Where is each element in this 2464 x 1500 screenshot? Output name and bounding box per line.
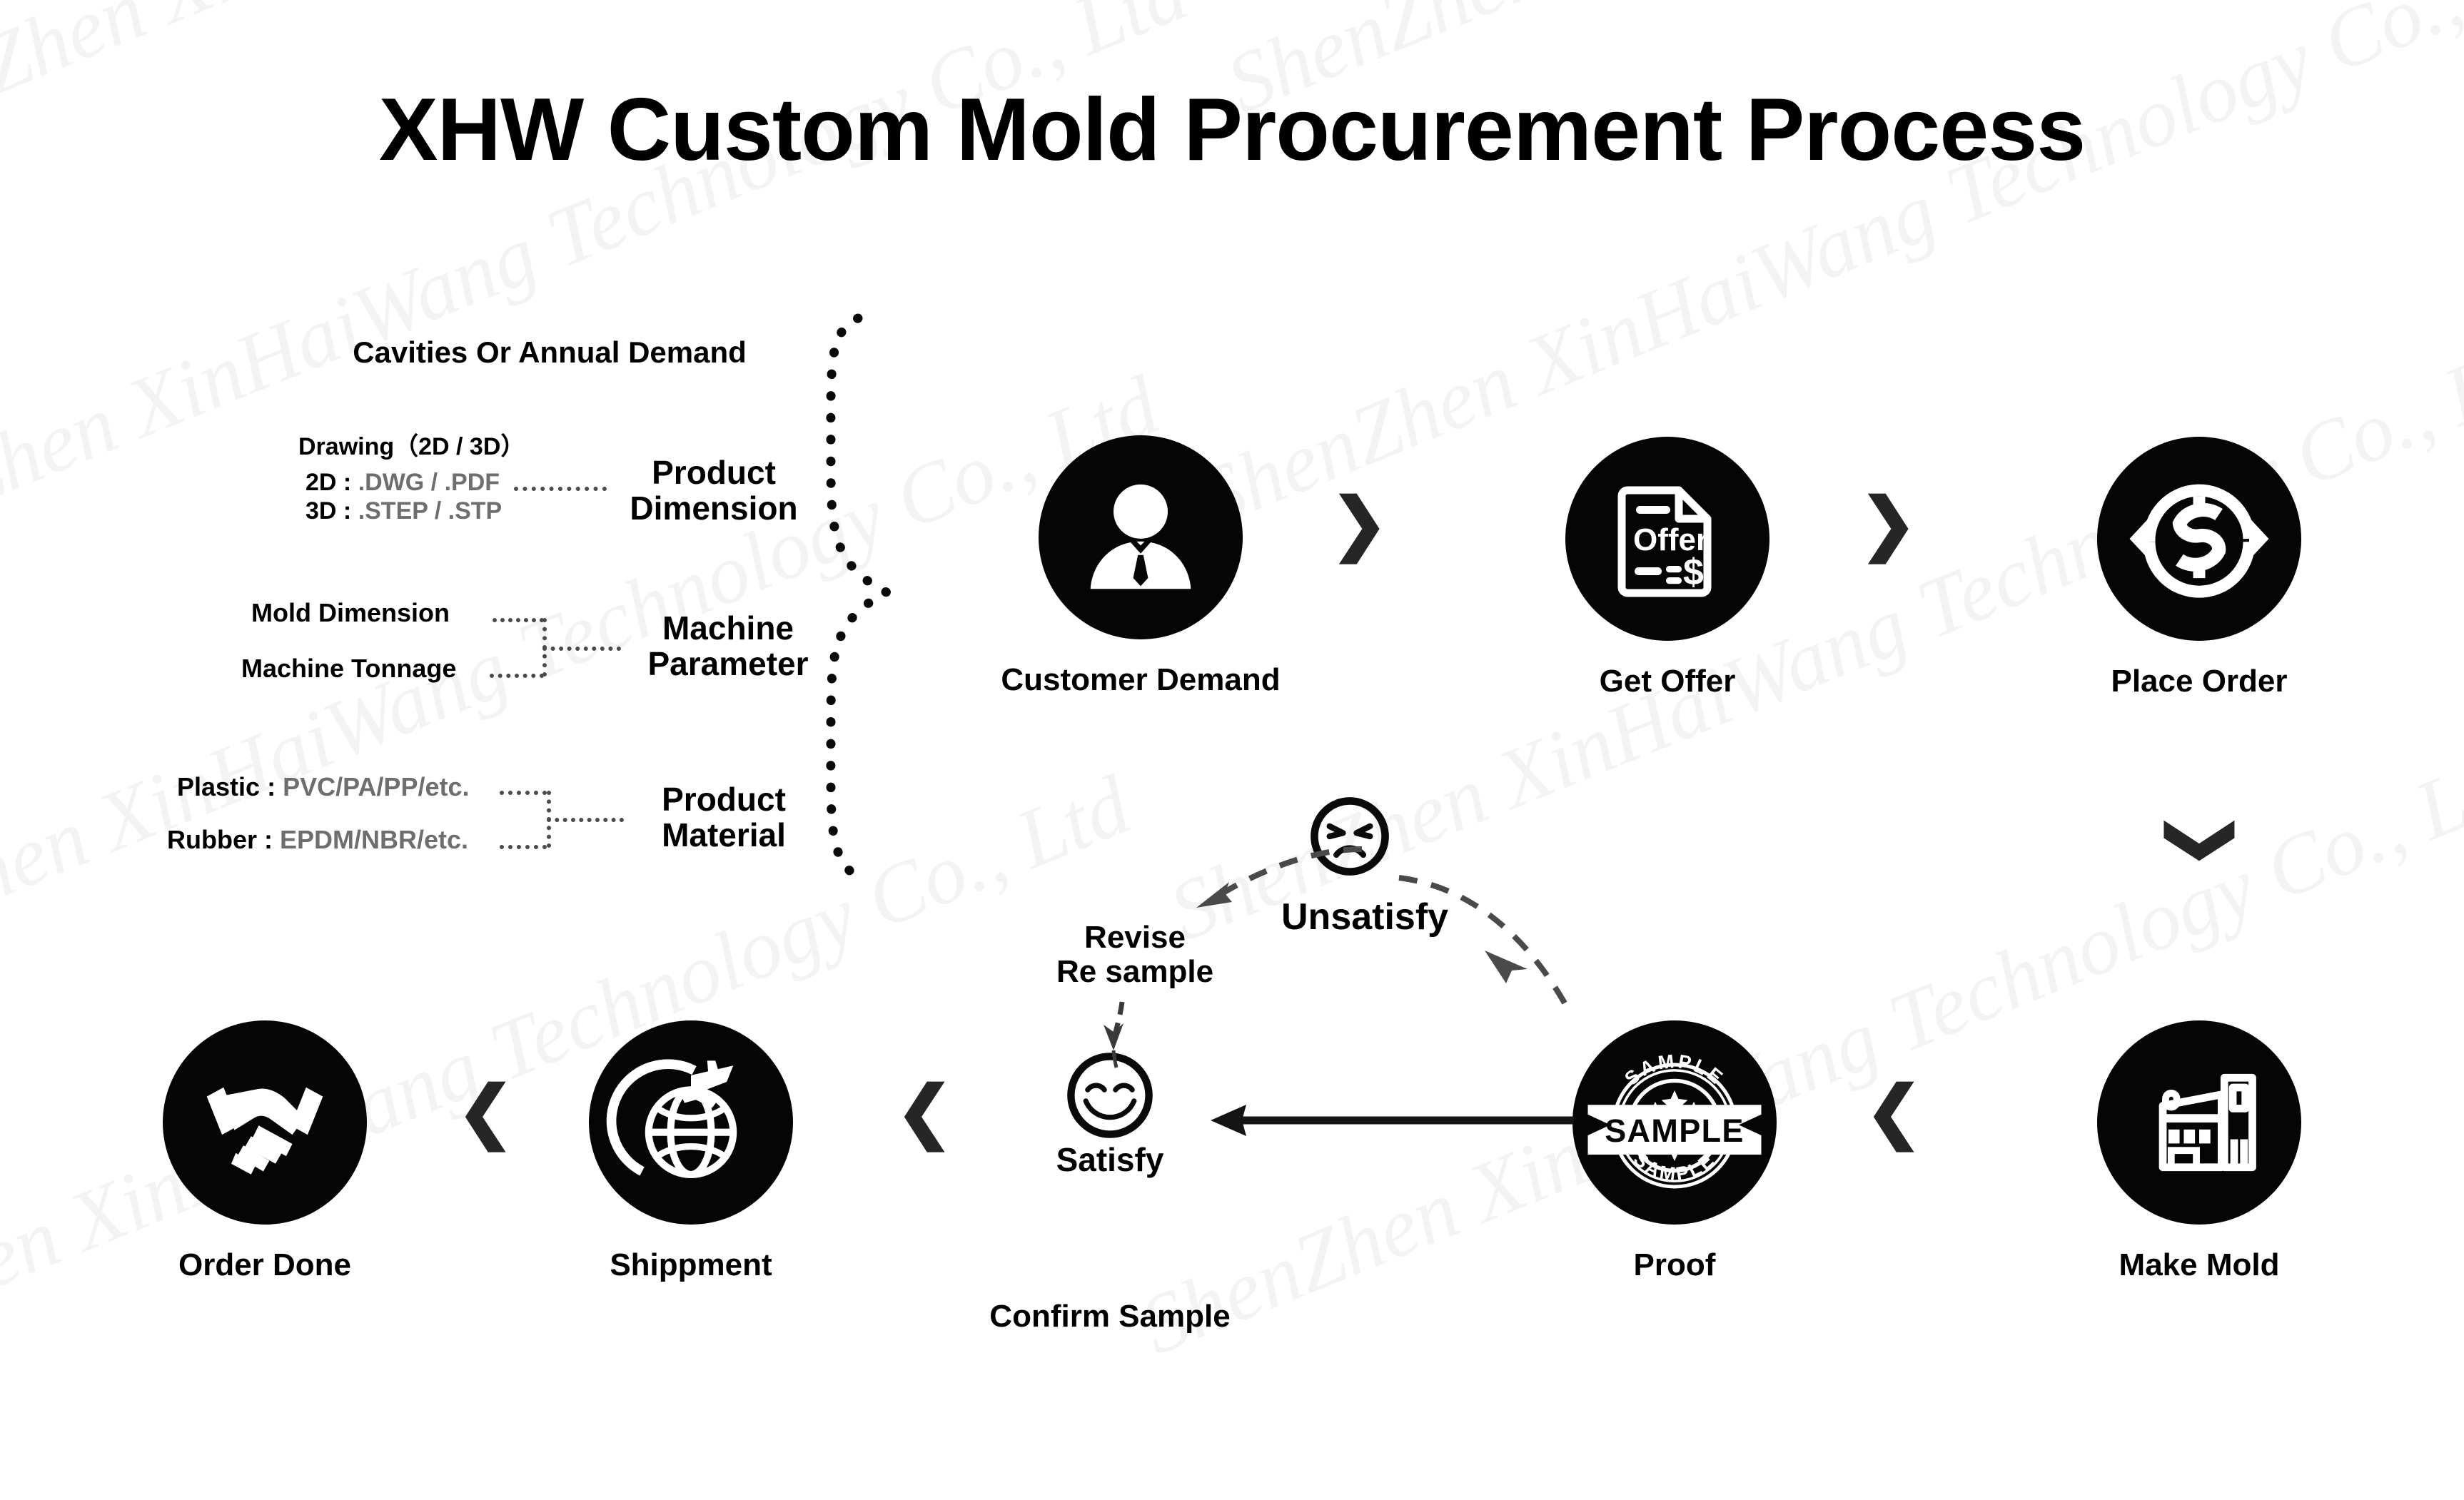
stamp-banner-text: SAMPLE [1605, 1113, 1745, 1149]
spec-group-machine-parameter: Mold Dimension Machine Tonnage [251, 599, 456, 682]
unsatisfy-label: Unsatisfy [1281, 896, 1448, 938]
spec-item-drawing: Drawing（2D / 3D） [298, 434, 525, 460]
spec-item-machine-tonnage: Machine Tonnage [241, 655, 456, 682]
spec-leader-line-mold-dimension [493, 618, 544, 622]
node-place-order[interactable]: Place Order [2097, 437, 2301, 641]
spec-label-product-material: Product Material [624, 782, 824, 853]
node-label: Proof [1634, 1247, 1716, 1283]
watermark-text: ShenZhen XinHaiWang Technology Co., Ltd [0, 357, 1172, 1003]
spec-group-product-dimension: Drawing（2D / 3D） 2D : .DWG / .PDF 3D : .… [286, 434, 525, 524]
watermark-layer: ShenZhen XinHaiWang Technology Co., Ltd … [0, 0, 2464, 1500]
spec-brace [807, 314, 949, 885]
offer-document-icon: Offer $ [1596, 467, 1739, 610]
node-label: Confirm Sample [989, 1299, 1230, 1334]
spec-leader-line-product-dimension [514, 487, 607, 491]
chevron-left-icon: ❮ [896, 1078, 953, 1146]
svg-text:$: $ [1683, 552, 1704, 593]
spec-item-rubber: Rubber : EPDM/NBR/etc. [167, 826, 469, 853]
spec-item-2d: 2D : .DWG / .PDF [306, 470, 525, 495]
spec-label-machine-parameter: Machine Parameter [621, 611, 835, 681]
spec-leader-line-plastic [500, 791, 547, 795]
node-label: Customer Demand [1001, 662, 1280, 698]
node-make-mold[interactable]: Make Mold [2097, 1020, 2301, 1225]
place-order-circle[interactable] [2097, 437, 2301, 641]
node-order-done[interactable]: Order Done [163, 1020, 367, 1225]
node-label: Order Done [178, 1247, 351, 1283]
get-offer-circle[interactable]: Offer $ [1565, 437, 1769, 641]
node-customer-demand[interactable]: Customer Demand [1039, 435, 1243, 639]
node-label: Get Offer [1600, 664, 1736, 699]
node-shippment[interactable]: Shippment [589, 1020, 793, 1225]
node-get-offer[interactable]: Offer $ Get Offer [1565, 437, 1769, 641]
shippment-circle[interactable] [589, 1020, 793, 1225]
node-label: Place Order [2111, 664, 2287, 699]
spec-item-mold-dimension: Mold Dimension [251, 599, 456, 627]
chevron-left-icon: ❮ [1865, 1078, 1922, 1146]
arrow-proof-to-confirm [1199, 1092, 1577, 1149]
spec-label-product-dimension: Product Dimension [614, 455, 814, 526]
chevron-right-icon: ❯ [1331, 490, 1388, 558]
spec-item-plastic: Plastic : PVC/PA/PP/etc. [177, 774, 469, 801]
chevron-down-icon: ❯ [2170, 812, 2238, 869]
revise-resample-label: Revise Re sample [1028, 921, 1242, 988]
page-title: XHW Custom Mold Procurement Process [0, 86, 2464, 174]
node-label: Shippment [610, 1247, 772, 1283]
factory-icon [2129, 1053, 2269, 1192]
spec-group-product-material: Plastic : PVC/PA/PP/etc. Rubber : EPDM/N… [177, 774, 469, 853]
spec-leader-line-machine-parameter [542, 647, 621, 651]
arrow-revise-down [1078, 999, 1163, 1078]
stamp-arc-top: SAMPLE [1620, 1050, 1728, 1090]
chevron-left-icon: ❮ [457, 1078, 514, 1146]
satisfy-label: Satisfy [1056, 1140, 1164, 1179]
handshake-icon [188, 1046, 341, 1199]
spec-leader-line-machine-tonnage [490, 674, 544, 678]
spec-leader-line-rubber [500, 845, 547, 849]
spec-item-3d: 3D : .STEP / .STP [306, 498, 525, 524]
chevron-right-icon: ❯ [1859, 490, 1917, 558]
spec-heading: Cavities Or Annual Demand [300, 335, 799, 370]
diagram-canvas: ShenZhen XinHaiWang Technology Co., Ltd … [0, 0, 2464, 1500]
order-done-circle[interactable] [163, 1020, 367, 1225]
globe-airplane-icon [610, 1041, 772, 1204]
make-mold-circle[interactable] [2097, 1020, 2301, 1225]
spec-leader-line-product-material [547, 818, 624, 822]
node-label: Make Mold [2119, 1247, 2280, 1283]
dollar-cycle-icon [2124, 463, 2275, 614]
person-tie-icon [1073, 470, 1208, 605]
customer-demand-circle[interactable] [1039, 435, 1243, 639]
